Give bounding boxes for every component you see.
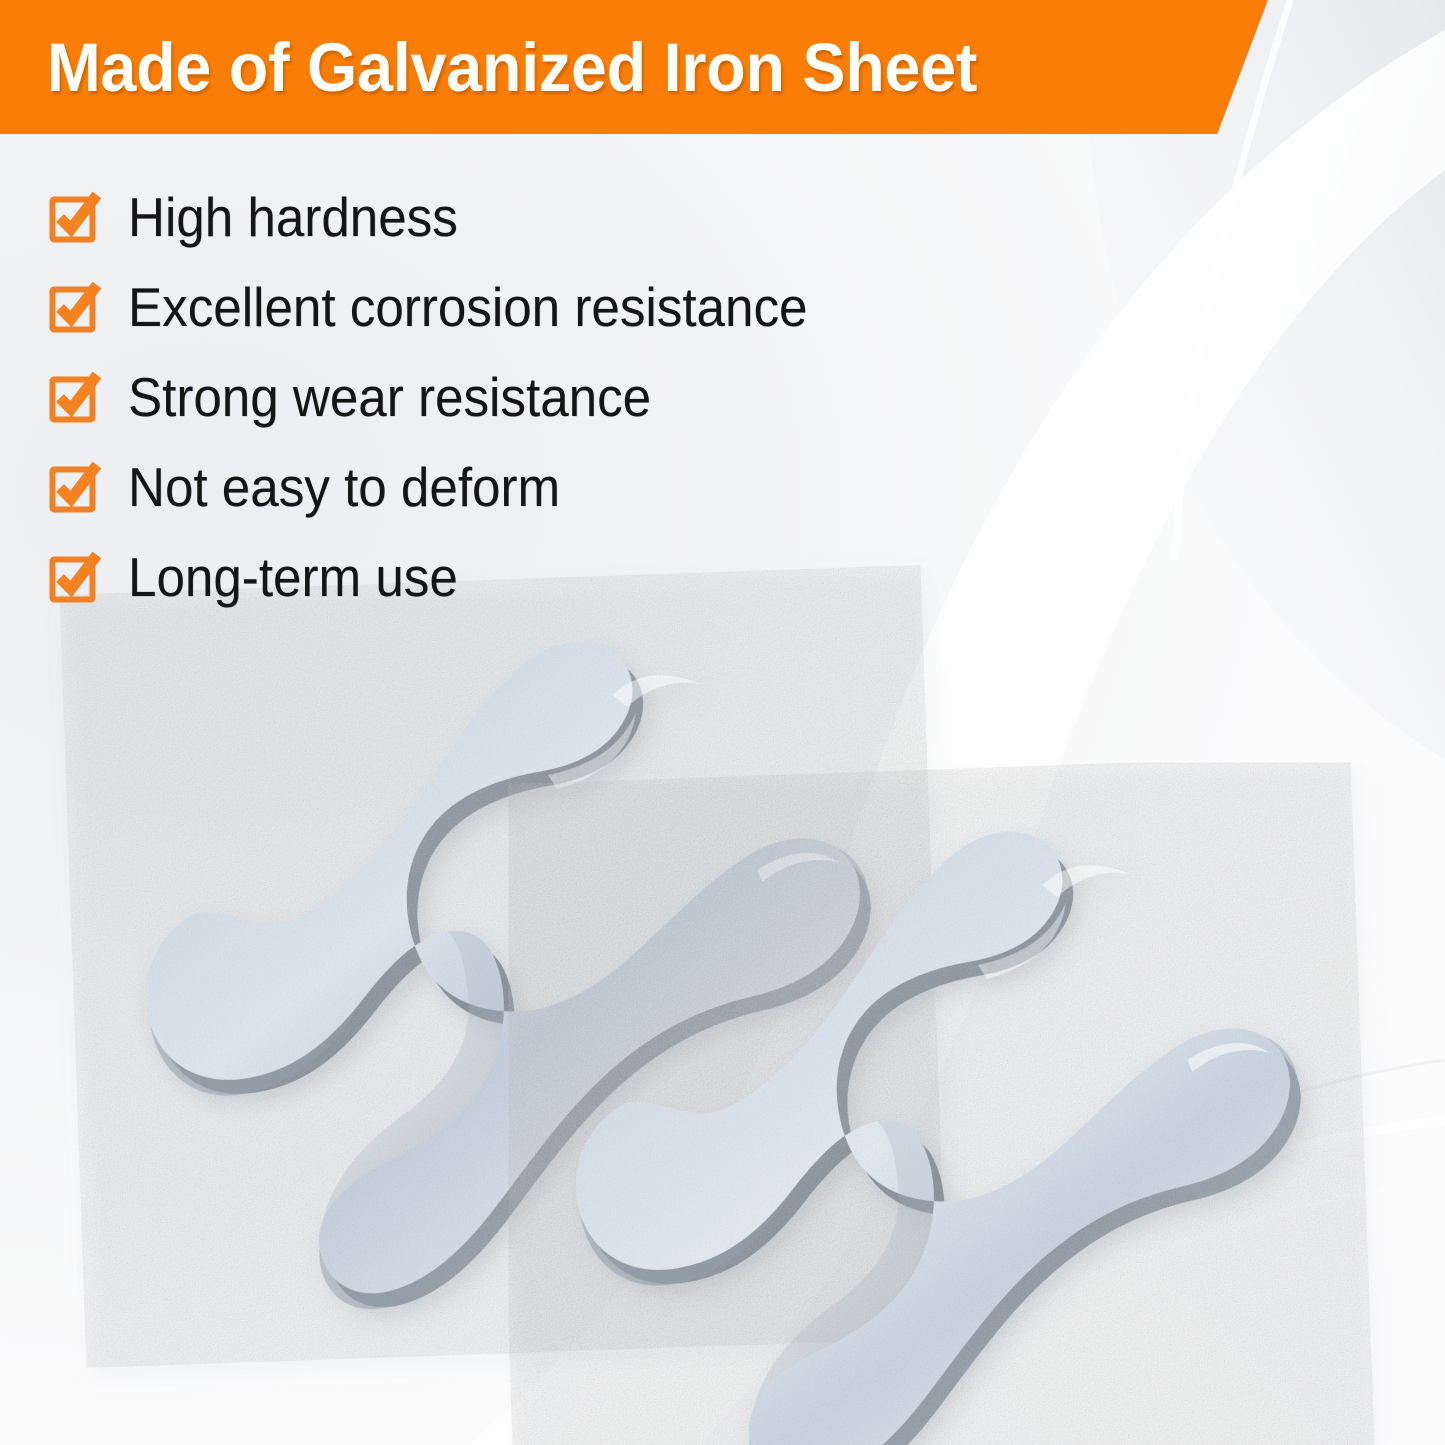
feature-item: Long-term use — [49, 532, 859, 622]
check-box-icon — [49, 283, 98, 332]
banner-title: Made of Galvanized Iron Sheet — [47, 22, 977, 114]
check-box-icon — [49, 193, 98, 242]
feature-label: Strong wear resistance — [128, 366, 651, 428]
feature-label: Long-term use — [128, 546, 458, 608]
feature-item: High hardness — [49, 172, 859, 262]
check-box-icon — [49, 463, 98, 512]
feature-label: Excellent corrosion resistance — [128, 276, 807, 338]
check-box-icon — [49, 553, 98, 602]
feature-item: Not easy to deform — [49, 442, 859, 532]
feature-list: High hardness Excellent corrosion resist… — [49, 172, 859, 622]
check-box-icon — [49, 373, 98, 422]
feature-label: High hardness — [128, 186, 458, 248]
feature-item: Excellent corrosion resistance — [49, 262, 859, 352]
feature-label: Not easy to deform — [128, 456, 560, 518]
product-feature-image: Made of Galvanized Iron Sheet High hardn… — [0, 0, 1445, 1445]
feature-item: Strong wear resistance — [49, 352, 859, 442]
